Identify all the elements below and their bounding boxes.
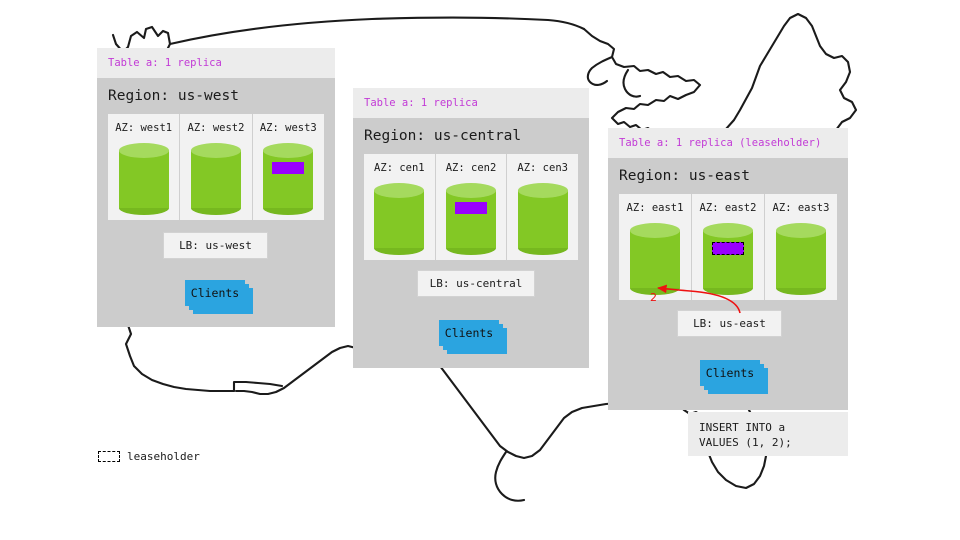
lb-label-us-west: LB: us-west xyxy=(179,239,252,252)
node-cylinder-cen3[interactable] xyxy=(518,183,568,255)
load-balancer-us-west[interactable]: LB: us-west xyxy=(163,232,268,259)
az-cell-cen2[interactable]: AZ: cen2 xyxy=(435,154,507,260)
cylinder-body xyxy=(191,150,241,208)
panel-title-us-central: Table a: 1 replica xyxy=(364,97,478,109)
clients-card-front[interactable]: Clients xyxy=(185,280,245,306)
panel-titlebar-us-west: Table a: 1 replica xyxy=(97,48,335,78)
node-cylinder-east2[interactable] xyxy=(703,223,753,295)
cylinder-body xyxy=(374,190,424,248)
clients-card-front[interactable]: Clients xyxy=(700,360,760,386)
node-cylinder-cen2[interactable] xyxy=(446,183,496,255)
az-label-west3: AZ: west3 xyxy=(260,122,317,134)
clients-label-us-east: Clients xyxy=(706,366,754,380)
cylinder-body xyxy=(776,230,826,288)
sql-statement-note: INSERT INTO a VALUES (1, 2); xyxy=(688,412,848,456)
az-label-cen1: AZ: cen1 xyxy=(374,162,425,174)
cylinder-body xyxy=(119,150,169,208)
az-label-east2: AZ: east2 xyxy=(700,202,757,214)
az-cell-west1[interactable]: AZ: west1 xyxy=(108,114,179,220)
node-cylinder-west1[interactable] xyxy=(119,143,169,215)
leaseholder-swatch-icon xyxy=(98,451,120,462)
cylinder-body xyxy=(630,230,680,288)
az-label-east3: AZ: east3 xyxy=(773,202,830,214)
lb-label-us-east: LB: us-east xyxy=(693,317,766,330)
panel-title-us-west: Table a: 1 replica xyxy=(108,57,222,69)
cylinder-body xyxy=(703,230,753,288)
panel-titlebar-us-east: Table a: 1 replica (leaseholder) xyxy=(608,128,848,158)
az-label-cen2: AZ: cen2 xyxy=(446,162,497,174)
az-strip-us-central: AZ: cen1 AZ: cen2 AZ: cen3 xyxy=(364,154,578,260)
legend-leaseholder: leaseholder xyxy=(98,450,200,463)
lb-label-us-central: LB: us-central xyxy=(430,277,523,290)
cylinder-top xyxy=(374,183,424,198)
az-cell-east1[interactable]: AZ: east1 xyxy=(619,194,691,300)
cylinder-body xyxy=(263,150,313,208)
region-label-us-east: Region: us-east xyxy=(619,168,750,184)
az-cell-east3[interactable]: AZ: east3 xyxy=(764,194,837,300)
az-cell-west2[interactable]: AZ: west2 xyxy=(179,114,251,220)
cylinder-top xyxy=(703,223,753,238)
cylinder-top xyxy=(446,183,496,198)
cylinder-top xyxy=(776,223,826,238)
clients-button-us-west[interactable]: Clients xyxy=(185,280,253,314)
region-panel-us-central: Table a: 1 replica Region: us-central AZ… xyxy=(353,88,589,368)
az-strip-us-east: AZ: east1 AZ: east2 AZ: east3 xyxy=(619,194,837,300)
clients-button-us-central[interactable]: Clients xyxy=(439,320,507,354)
region-panel-us-east: Table a: 1 replica (leaseholder) Region:… xyxy=(608,128,848,410)
cylinder-top xyxy=(263,143,313,158)
replica-block-east2-leaseholder[interactable] xyxy=(712,242,744,255)
az-label-west2: AZ: west2 xyxy=(188,122,245,134)
node-cylinder-cen1[interactable] xyxy=(374,183,424,255)
arrow-step-number-2: 2 xyxy=(650,291,657,304)
cylinder-top xyxy=(518,183,568,198)
az-label-east1: AZ: east1 xyxy=(627,202,684,214)
az-label-cen3: AZ: cen3 xyxy=(517,162,568,174)
load-balancer-us-east[interactable]: LB: us-east xyxy=(677,310,782,337)
panel-titlebar-us-central: Table a: 1 replica xyxy=(353,88,589,118)
cylinder-top xyxy=(119,143,169,158)
clients-button-us-east[interactable]: Clients xyxy=(700,360,768,394)
az-cell-east2[interactable]: AZ: east2 xyxy=(691,194,764,300)
legend-label: leaseholder xyxy=(127,450,200,463)
region-panel-us-west: Table a: 1 replica Region: us-west AZ: w… xyxy=(97,48,335,327)
az-cell-west3[interactable]: AZ: west3 xyxy=(252,114,324,220)
clients-label-us-west: Clients xyxy=(191,286,239,300)
node-cylinder-east3[interactable] xyxy=(776,223,826,295)
replica-block-west3[interactable] xyxy=(272,162,304,174)
cylinder-body xyxy=(446,190,496,248)
load-balancer-us-central[interactable]: LB: us-central xyxy=(417,270,535,297)
az-cell-cen3[interactable]: AZ: cen3 xyxy=(506,154,578,260)
diagram-canvas: Table a: 1 replica Region: us-west AZ: w… xyxy=(0,0,960,540)
region-label-us-central: Region: us-central xyxy=(364,128,521,144)
node-cylinder-east1[interactable] xyxy=(630,223,680,295)
node-cylinder-west3[interactable] xyxy=(263,143,313,215)
az-label-west1: AZ: west1 xyxy=(115,122,172,134)
node-cylinder-west2[interactable] xyxy=(191,143,241,215)
cylinder-top xyxy=(630,223,680,238)
panel-title-us-east: Table a: 1 replica (leaseholder) xyxy=(619,137,821,149)
az-cell-cen1[interactable]: AZ: cen1 xyxy=(364,154,435,260)
cylinder-body xyxy=(518,190,568,248)
replica-block-cen2[interactable] xyxy=(455,202,487,214)
clients-label-us-central: Clients xyxy=(445,326,493,340)
clients-card-front[interactable]: Clients xyxy=(439,320,499,346)
cylinder-top xyxy=(191,143,241,158)
region-label-us-west: Region: us-west xyxy=(108,88,239,104)
az-strip-us-west: AZ: west1 AZ: west2 AZ: west3 xyxy=(108,114,324,220)
